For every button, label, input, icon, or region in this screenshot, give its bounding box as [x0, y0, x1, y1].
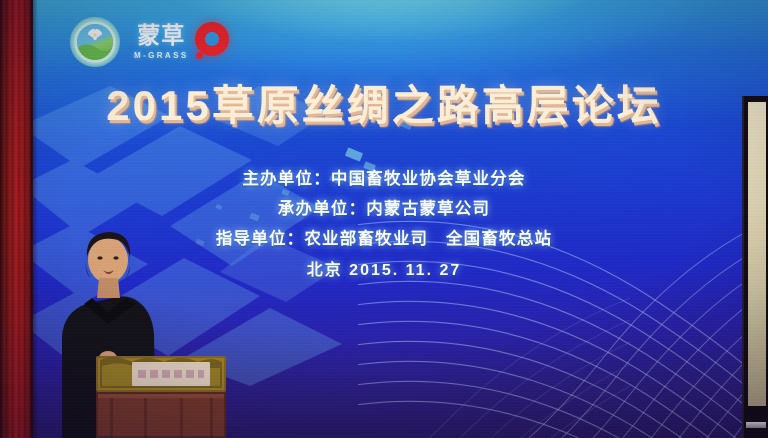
speaker-and-podium	[40, 208, 230, 438]
brand-red-dot-icon	[196, 52, 203, 59]
conference-stage-screenshot: 蒙草 M-GRASS 2015草原丝绸之路高层论坛 主办单位：中国畜牧业协会草业…	[0, 0, 768, 438]
brand-logo-row: 蒙草 M-GRASS	[70, 14, 229, 70]
brand-name-cn: 蒙草	[137, 24, 185, 47]
left-curtain-shadow	[31, 0, 38, 438]
wooden-podium	[96, 356, 226, 438]
forum-main-title: 2015草原丝绸之路高层论坛	[0, 84, 768, 128]
side-monitor-screen	[748, 102, 766, 406]
side-monitor-base	[746, 422, 766, 428]
brand-name-en: M-GRASS	[134, 52, 189, 60]
m-grass-circular-emblem	[70, 17, 120, 67]
m-grass-wordmark: 蒙草 M-GRASS	[134, 24, 229, 60]
brand-red-ring-icon	[195, 22, 229, 56]
side-monitor-panel	[742, 96, 768, 438]
organizer-line: 主办单位：中国畜牧业协会草业分会	[0, 164, 768, 194]
left-red-curtain	[0, 0, 33, 438]
emblem-disc	[77, 24, 113, 60]
